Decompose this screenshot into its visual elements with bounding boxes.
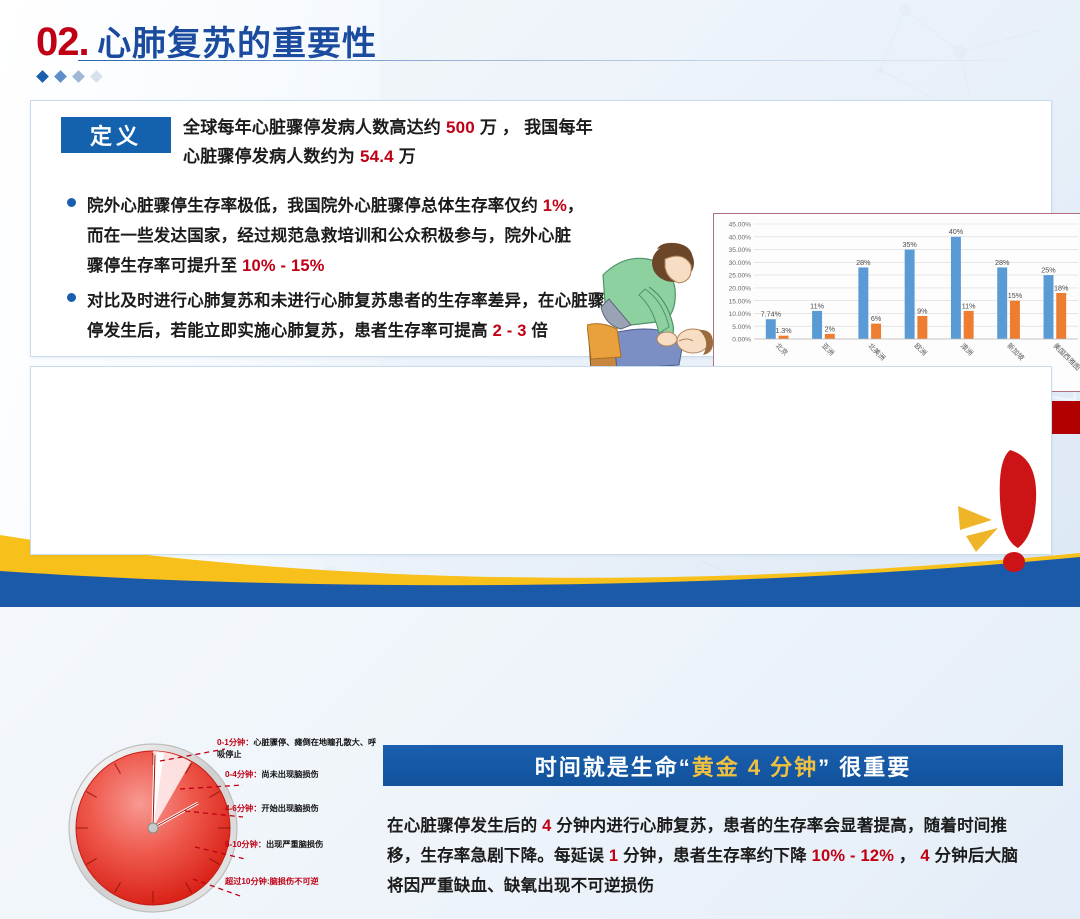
bottom-content-panel: 0-1分钟：心脏骤停、瘫倒在地瞳孔散大、呼吸停止 0-4分钟：尚未出现脑损伤 4… (30, 366, 1052, 555)
bottom-h2: 1 (609, 847, 618, 865)
bullet-dot-icon (67, 293, 76, 302)
header-divider (78, 60, 1038, 61)
definition-line1-pre: 全球每年心脏骤停发病人数高达约 (183, 118, 446, 137)
definition-line1-post: 万 ， 我国每年 (475, 118, 593, 137)
blue-banner-gold: 黄金 4 分钟 (692, 750, 818, 782)
definition-line2-post: 万 (394, 147, 416, 166)
bottom-h3: 10% - 12% (812, 847, 895, 865)
bullet-1-hl2: 10% - 15% (242, 257, 325, 275)
clock-label-3: 6-10分钟：出现严重脑损伤 (225, 839, 385, 851)
page-title: 心肺复苏的重要性 (97, 16, 377, 65)
svg-text:北京: 北京 (774, 341, 790, 357)
svg-text:30.00%: 30.00% (729, 260, 752, 267)
bullet-2-hl1: 2 - 3 (493, 322, 527, 340)
definition-line2-pre: 心脏骤停发病人数约为 (183, 147, 360, 166)
clock-label-1: 0-4分钟：尚未出现脑损伤 (225, 769, 385, 781)
svg-text:35%: 35% (902, 240, 917, 249)
definition-text: 全球每年心脏骤停发病人数高达约 500 万 ， 我国每年 心脏骤停发病人数约为 … (183, 113, 603, 171)
clock-label-4-desc: 脑损伤不可逆 (270, 877, 319, 886)
svg-text:1.3%: 1.3% (775, 326, 792, 335)
clock-label-list: 0-1分钟：心脏骤停、瘫倒在地瞳孔散大、呼吸停止 0-4分钟：尚未出现脑损伤 4… (217, 737, 382, 919)
list-item: 院外心脏骤停生存率极低，我国院外心脏骤停总体生存率仅约 1%，而在一些发达国家，… (67, 191, 587, 281)
section-number: 02. (36, 20, 89, 65)
svg-text:亚洲: 亚洲 (820, 342, 836, 358)
svg-text:9%: 9% (917, 306, 928, 315)
header-dot-3 (72, 70, 85, 83)
header-dot-1 (36, 70, 49, 83)
clock-label-2-desc: 开始出现脑损伤 (261, 804, 318, 813)
definition-badge: 定义 (61, 117, 171, 153)
svg-text:28%: 28% (995, 258, 1010, 267)
svg-text:美国西雅图: 美国西雅图 (1051, 341, 1080, 372)
svg-text:45.00%: 45.00% (729, 222, 752, 229)
svg-text:40.00%: 40.00% (729, 234, 752, 241)
bullet-1-seg1: 院外心脏骤停生存率极低，我国院外心脏骤停总体生存率仅约 (87, 197, 543, 215)
page-header: 02. 心肺复苏的重要性 (36, 16, 676, 90)
clock-label-1-desc: 尚未出现脑损伤 (261, 770, 318, 779)
svg-text:欧洲: 欧洲 (913, 341, 929, 357)
svg-text:7.74%: 7.74% (761, 310, 782, 319)
svg-text:北美洲: 北美洲 (866, 341, 887, 362)
bullet-1-text: 院外心脏骤停生存率极低，我国院外心脏骤停总体生存率仅约 1%，而在一些发达国家，… (87, 191, 587, 281)
svg-text:25%: 25% (1041, 266, 1056, 275)
blue-banner-pre: 时间就是生命“ (535, 750, 692, 782)
svg-text:28%: 28% (856, 258, 871, 267)
chart-svg: 0.00%5.00%10.00%15.00%20.00%25.00%30.00%… (714, 214, 1080, 391)
clock-label-2-time: 4-6分钟： (225, 804, 261, 813)
svg-text:5.00%: 5.00% (732, 324, 751, 331)
clock-label-4: 超过10分钟:脑损伤不可逆 (225, 876, 385, 888)
svg-text:澳洲: 澳洲 (959, 341, 975, 357)
bottom-s4: ， (894, 847, 920, 865)
definition-badge-label: 定义 (90, 119, 142, 151)
clock-label-1-time: 0-4分钟： (225, 770, 261, 779)
bottom-s3: 分钟，患者生存率约下降 (618, 847, 811, 865)
header-dots (38, 72, 101, 81)
clock-label-0: 0-1分钟：心脏骤停、瘫倒在地瞳孔散大、呼吸停止 (217, 737, 377, 760)
svg-text:新加坡: 新加坡 (1005, 341, 1026, 362)
definition-line1-number: 500 (446, 118, 475, 137)
bullet-2-text: 对比及时进行心肺复苏和未进行心肺复苏患者的生存率差异，在心脏骤停发生后，若能立即… (87, 286, 607, 346)
svg-text:6%: 6% (871, 314, 882, 323)
clock-label-0-time: 0-1分钟： (217, 738, 253, 747)
golden-minutes-banner: 时间就是生命“黄金 4 分钟” 很重要 (383, 745, 1063, 786)
svg-text:35.00%: 35.00% (729, 247, 752, 254)
blue-banner-post: ” 很重要 (818, 750, 911, 782)
svg-text:40%: 40% (949, 227, 964, 236)
svg-text:15%: 15% (1008, 291, 1023, 300)
svg-text:2%: 2% (825, 324, 836, 333)
bullet-dot-icon (67, 198, 76, 207)
bottom-h4: 4 (920, 847, 929, 865)
definition-line2-number: 54.4 (360, 147, 394, 166)
clock-label-2: 4-6分钟：开始出现脑损伤 (225, 803, 385, 815)
clock-label-3-time: 6-10分钟： (225, 840, 266, 849)
svg-text:0.00%: 0.00% (732, 337, 751, 344)
clock-label-4-time: 超过10分钟: (225, 877, 270, 886)
bullet-2-seg2: 倍 (527, 322, 548, 340)
svg-text:11%: 11% (810, 301, 824, 310)
svg-text:18%: 18% (1054, 283, 1069, 292)
list-item: 对比及时进行心肺复苏和未进行心肺复苏患者的生存率差异，在心脏骤停发生后，若能立即… (67, 286, 607, 346)
svg-text:20.00%: 20.00% (729, 285, 752, 292)
header-dot-2 (54, 70, 67, 83)
bottom-paragraph: 在心脏骤停发生后的 4 分钟内进行心肺复苏，患者的生存率会显著提高，随着时间推移… (387, 811, 1027, 901)
cpr-illustration (587, 229, 719, 379)
svg-text:25.00%: 25.00% (729, 273, 752, 280)
top-content-panel: 定义 全球每年心脏骤停发病人数高达约 500 万 ， 我国每年 心脏骤停发病人数… (30, 100, 1052, 357)
svg-text:11%: 11% (962, 301, 976, 310)
bottom-s1: 在心脏骤停发生后的 (387, 817, 542, 835)
bullet-1-hl1: 1% (543, 197, 567, 215)
header-dot-4 (90, 70, 103, 83)
clock-label-3-desc: 出现严重脑损伤 (266, 840, 323, 849)
bottom-h1: 4 (542, 817, 551, 835)
svg-text:10.00%: 10.00% (729, 311, 752, 318)
svg-text:15.00%: 15.00% (729, 298, 752, 305)
